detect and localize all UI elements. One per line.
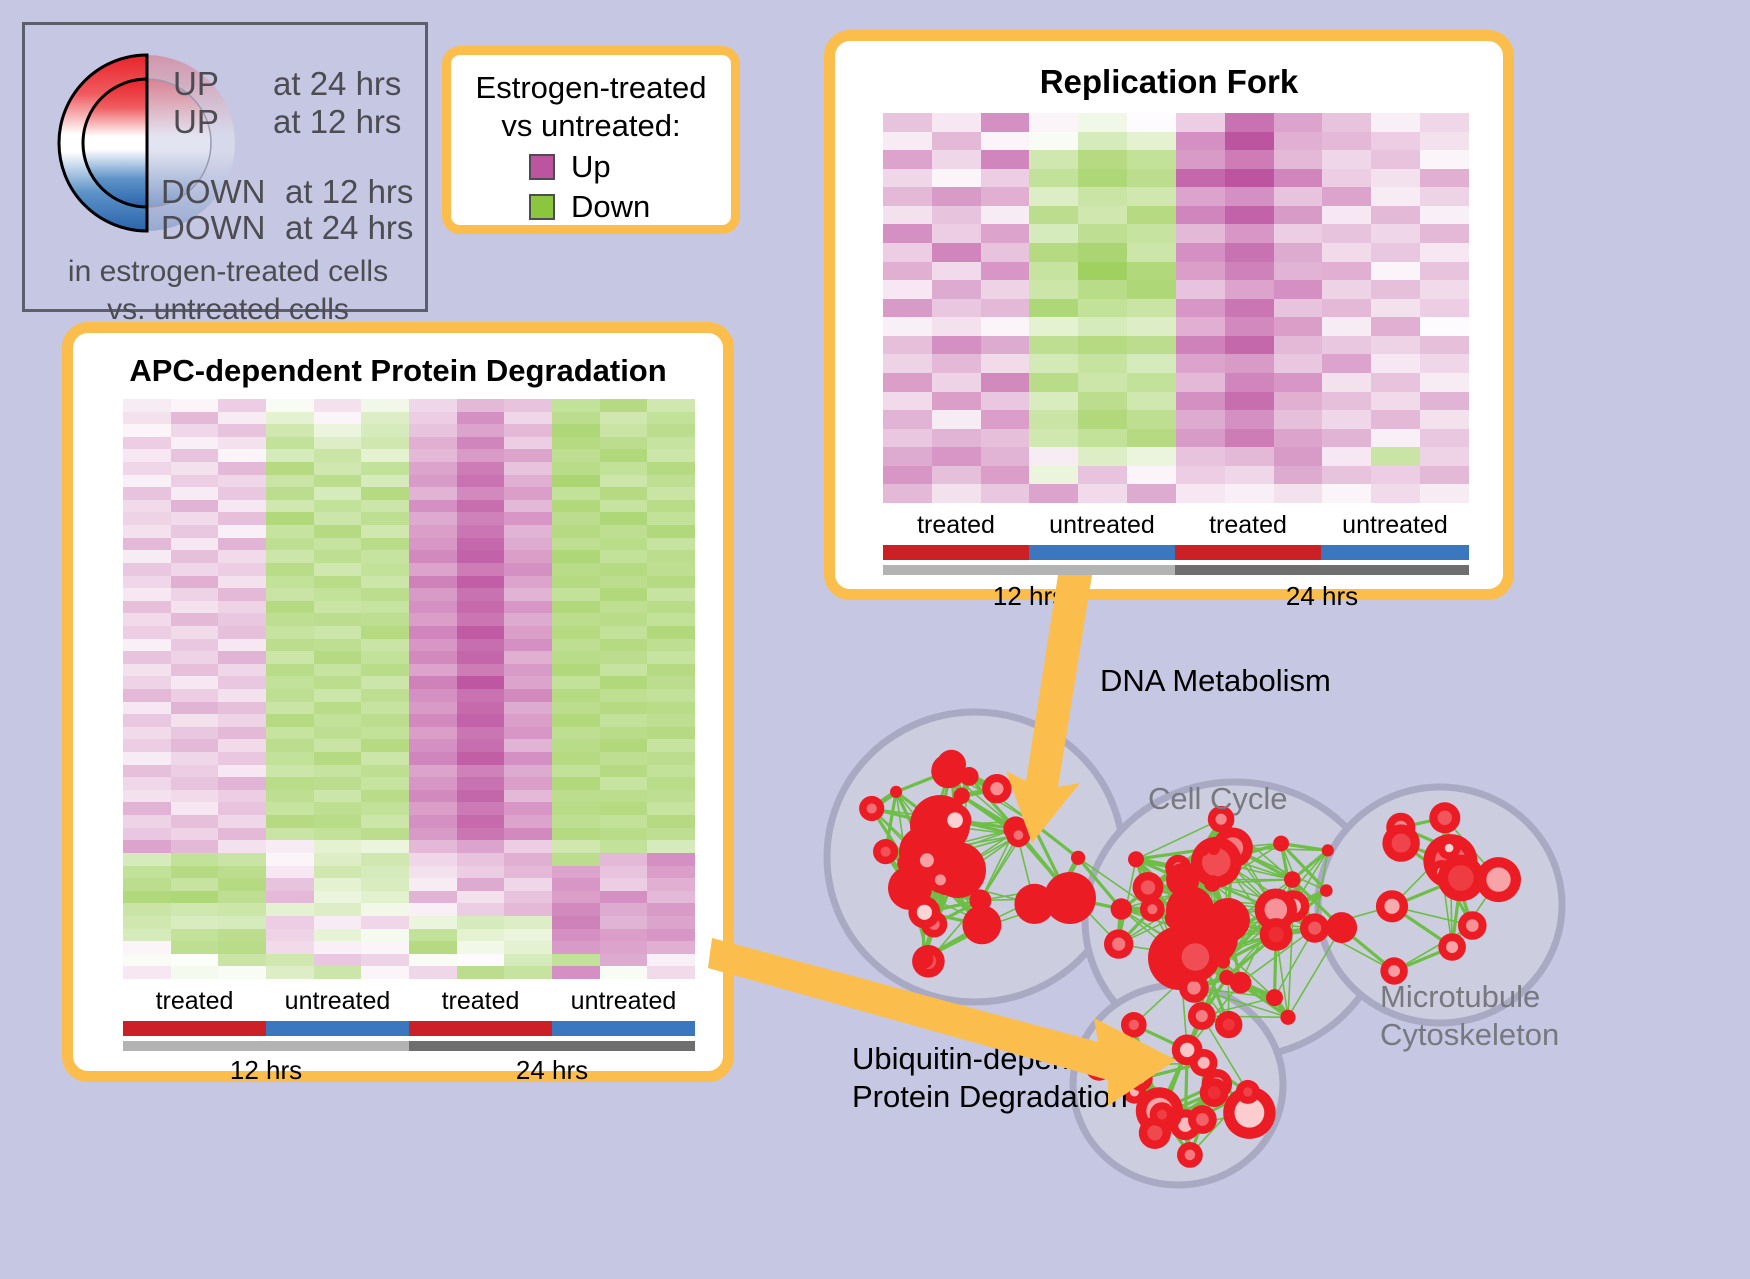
up-color-swatch	[529, 154, 555, 180]
updown-legend-title: Estrogen-treated vs untreated:	[451, 69, 731, 145]
panel-apc-degradation: APC-dependent Protein Degradation treate…	[62, 322, 734, 1082]
apc-treatment-bar-1	[266, 1021, 409, 1036]
updown-legend-card: Estrogen-treated vs untreated: Up Down	[442, 46, 740, 234]
rf-treatment-bar-1	[1029, 545, 1175, 560]
legend-state-down-24: DOWN	[161, 209, 265, 247]
apc-time-bar-12	[123, 1041, 409, 1051]
down-color-swatch	[529, 194, 555, 220]
heatmap-replication-fork	[883, 113, 1469, 503]
legend-time-up-24: at 24 hrs	[273, 65, 401, 103]
rf-treatment-bar-3	[1321, 545, 1469, 560]
legend-footer-line1: in estrogen-treated cells	[25, 253, 431, 291]
legend-item-down-label: Down	[571, 189, 650, 225]
apc-time-label-12: 12 hrs	[123, 1055, 409, 1086]
updown-title-line2: vs untreated:	[451, 107, 731, 145]
rf-group-label-1: untreated	[1029, 511, 1175, 540]
rf-treatment-bar-0	[883, 545, 1029, 560]
arrow-replication-fork-to-network	[940, 575, 1160, 865]
legend-item-down: Down	[529, 189, 650, 225]
apc-group-label-2: treated	[409, 987, 552, 1016]
panel-replication-fork-title: Replication Fork	[835, 63, 1503, 101]
rf-group-label-2: treated	[1175, 511, 1321, 540]
legend-state-down-12: DOWN	[161, 173, 265, 211]
rf-treatment-bar-2	[1175, 545, 1321, 560]
legend-item-up: Up	[529, 149, 611, 185]
apc-treatment-bar-2	[409, 1021, 552, 1036]
rf-time-bar-12	[883, 565, 1175, 575]
apc-treatment-bar-0	[123, 1021, 266, 1036]
panel-apc-title: APC-dependent Protein Degradation	[73, 353, 723, 389]
apc-group-label-1: untreated	[266, 987, 409, 1016]
rf-time-label-24: 24 hrs	[1175, 581, 1469, 612]
legend-state-up-24: UP	[173, 65, 219, 103]
legend-state-up-12: UP	[173, 103, 219, 141]
network-label-cell-cycle: Cell Cycle	[1148, 780, 1288, 818]
rf-group-label-0: treated	[883, 511, 1029, 540]
legend-time-down-24: at 24 hrs	[285, 209, 413, 247]
legend-item-up-label: Up	[571, 149, 611, 185]
arrow-apc-to-network	[690, 920, 1270, 1110]
apc-group-label-3: untreated	[552, 987, 695, 1016]
updown-title-line1: Estrogen-treated	[451, 69, 731, 107]
rf-time-bar-24	[1175, 565, 1469, 575]
heatmap-apc	[123, 399, 695, 979]
apc-time-bar-24	[409, 1041, 695, 1051]
legend-time-up-12: at 12 hrs	[273, 103, 401, 141]
apc-treatment-bar-3	[552, 1021, 695, 1036]
apc-time-label-24: 24 hrs	[409, 1055, 695, 1086]
legend-time-down-12: at 12 hrs	[285, 173, 413, 211]
network-label-microtubule: Microtubule Cytoskeleton	[1380, 978, 1559, 1054]
legend-footer: in estrogen-treated cells vs. untreated …	[25, 253, 431, 329]
apc-group-label-0: treated	[123, 987, 266, 1016]
rf-group-label-3: untreated	[1321, 511, 1469, 540]
panel-replication-fork: Replication Fork treated untreated treat…	[824, 30, 1514, 600]
colorbar-legend-box: UP at 24 hrs UP at 12 hrs DOWN at 12 hrs…	[22, 22, 428, 312]
